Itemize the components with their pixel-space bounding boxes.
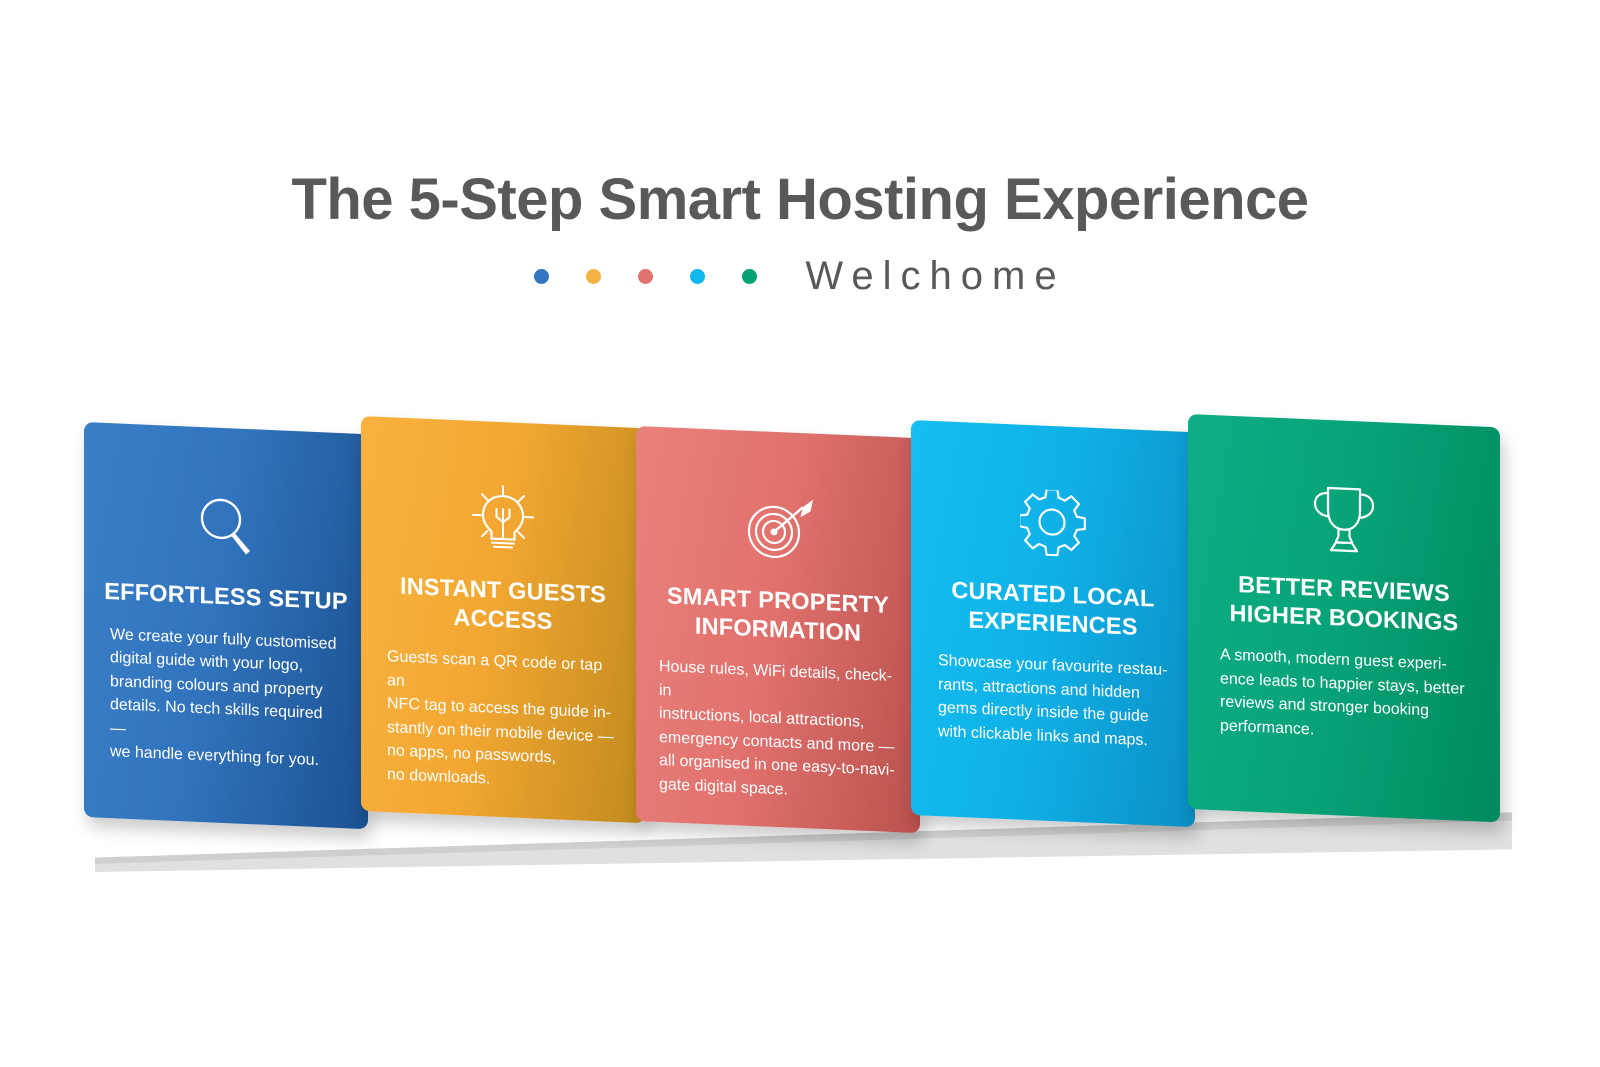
- card-title: EFFORTLESS SETUP: [101, 577, 351, 616]
- step-card-instant-guests-access[interactable]: INSTANT GUESTS ACCESS Guests scan a QR c…: [361, 416, 645, 823]
- dot-cyan: [690, 269, 705, 284]
- card-body: Guests scan a QR code or tap an NFC tag …: [387, 645, 619, 796]
- step-card-curated-local-experiences[interactable]: CURATED LOCAL EXPERIENCES Showcase your …: [911, 420, 1195, 827]
- dot-blue: [534, 269, 549, 284]
- card-body: A smooth, modern guest experi- ence lead…: [1220, 644, 1468, 749]
- dot-salmon: [638, 269, 653, 284]
- subtitle-row: Welchome: [0, 254, 1600, 299]
- step-card-smart-property-information[interactable]: SMART PROPERTY INFORMATION House rules, …: [636, 426, 920, 833]
- dot-amber: [586, 269, 601, 284]
- step-card-better-reviews-higher-bookings[interactable]: BETTER REVIEWS HIGHER BOOKINGS A smooth,…: [1188, 414, 1500, 822]
- lightbulb-icon: [469, 481, 537, 558]
- dot-green: [742, 269, 757, 284]
- step-card-effortless-setup[interactable]: EFFORTLESS SETUP We create your fully cu…: [84, 422, 368, 829]
- step-dots: [534, 269, 757, 284]
- trophy-icon: [1307, 479, 1381, 556]
- gear-icon: [1020, 485, 1086, 562]
- header: The 5-Step Smart Hosting Experience Welc…: [0, 0, 1600, 299]
- steps-deck: EFFORTLESS SETUP We create your fully cu…: [0, 400, 1600, 860]
- magnifier-icon: [196, 487, 256, 564]
- card-title: SMART PROPERTY INFORMATION: [653, 581, 903, 649]
- card-title: INSTANT GUESTS ACCESS: [378, 571, 628, 639]
- card-body: Showcase your favourite restau- rants, a…: [938, 649, 1168, 753]
- brand-name: Welchome: [805, 254, 1065, 299]
- card-title: BETTER REVIEWS HIGHER BOOKINGS: [1199, 568, 1489, 638]
- card-title: CURATED LOCAL EXPERIENCES: [928, 575, 1178, 643]
- page-title: The 5-Step Smart Hosting Experience: [0, 0, 1600, 232]
- card-body: We create your fully customised digital …: [110, 623, 342, 774]
- target-arrow-icon: [741, 491, 815, 568]
- card-body: House rules, WiFi details, check-in inst…: [659, 655, 897, 806]
